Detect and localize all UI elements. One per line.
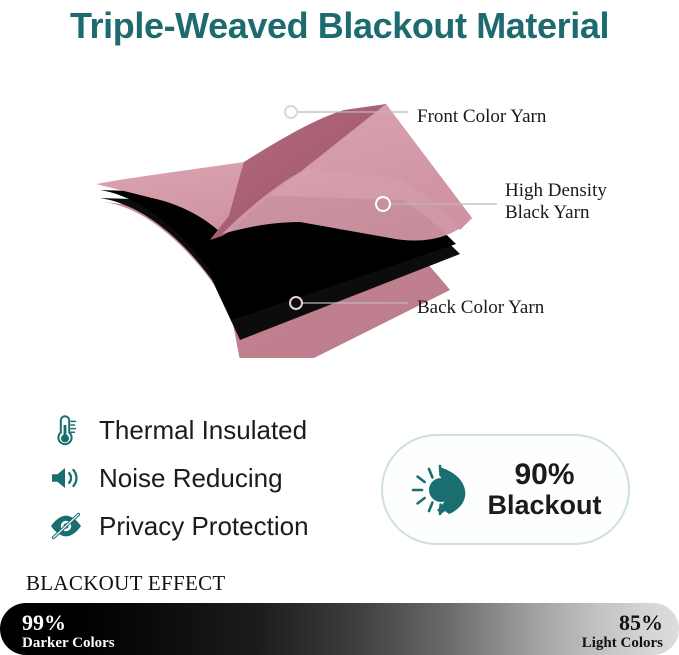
bar-percent-light: 85% [582,611,663,635]
sun-blocked-by-curtain-icon [409,457,481,523]
bar-caption-light: Light Colors [582,635,663,652]
callout-label-middle-line1: High Density [505,180,607,202]
bar-caption-darker: Darker Colors [22,635,115,652]
callout-label-back: Back Color Yarn [417,297,544,319]
fabric-layers-diagram: Front Color Yarn High Density Black Yarn… [0,58,679,358]
bar-label-light-colors: 85% Light Colors [582,611,663,652]
callout-label-front: Front Color Yarn [417,106,546,128]
feature-row-thermal-insulated: Thermal Insulated [45,408,375,452]
callout-label-middle-line2: Black Yarn [505,202,607,224]
bar-label-darker-colors: 99% Darker Colors [22,611,115,652]
page-title: Triple-Weaved Blackout Material [0,0,679,52]
feature-list: Thermal Insulated Noise Reducing Privacy… [45,408,375,552]
bar-percent-darker: 99% [22,611,115,635]
feature-row-noise-reducing: Noise Reducing [45,456,375,500]
blackout-badge: 90% Blackout [381,434,630,545]
badge-text: 90% Blackout [487,459,601,519]
feature-label-thermal-insulated: Thermal Insulated [99,415,307,446]
badge-percent: 90% [487,459,601,491]
feature-label-privacy-protection: Privacy Protection [99,511,309,542]
feature-label-noise-reducing: Noise Reducing [99,463,283,494]
eye-slash-icon [45,506,87,546]
speaker-sound-icon [45,458,87,498]
blackout-effect-heading: BLACKOUT EFFECT [26,571,226,596]
badge-caption: Blackout [487,491,601,520]
callout-marker-front [285,106,297,118]
thermometer-icon [45,410,87,450]
callout-label-middle: High Density Black Yarn [505,180,607,225]
feature-row-privacy-protection: Privacy Protection [45,504,375,548]
blackout-effect-gradient-bar: 99% Darker Colors 85% Light Colors [0,603,679,655]
